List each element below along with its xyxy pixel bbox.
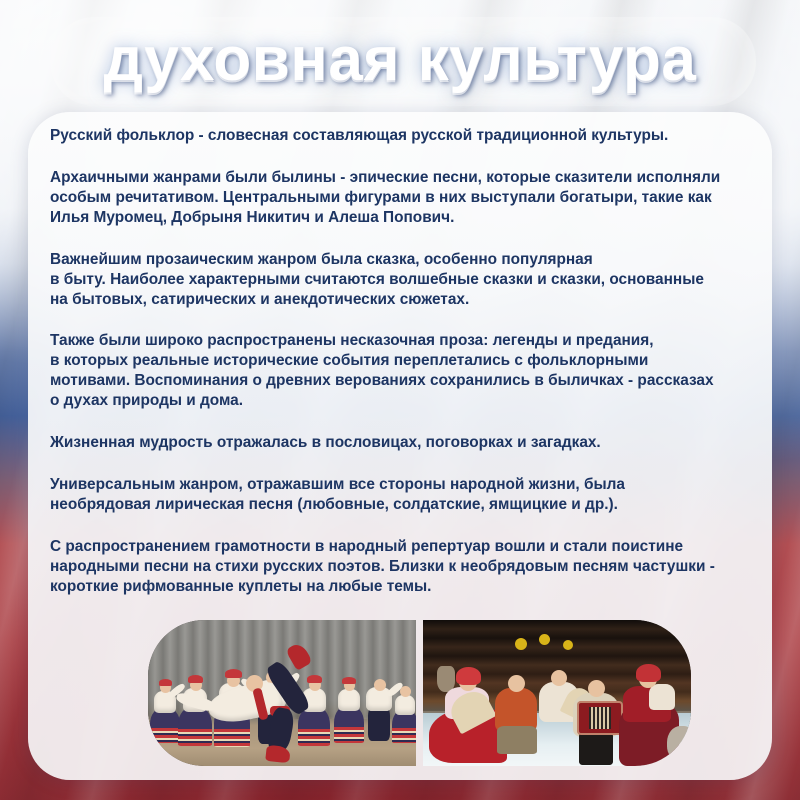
paragraph-3: Важнейшим прозаическим жанром была сказк… [50, 250, 750, 310]
instrument-accordion [577, 701, 623, 735]
paragraph-5: Жизненная мудрость отражалась в пословиц… [50, 433, 750, 453]
paragraph-2: Архаичными жанрами были былины - эпическ… [50, 168, 750, 228]
photo-folk-musicians [423, 620, 691, 766]
content-panel: Русский фольклор - словесная составляюща… [28, 112, 772, 780]
photo-strip [148, 620, 691, 766]
paragraph-7: С распространением грамотности в народны… [50, 537, 750, 597]
paragraph-4: Также были широко распространены несказо… [50, 331, 750, 411]
paragraph-1: Русский фольклор - словесная составляюща… [50, 126, 750, 146]
photo-folk-dance-troupe [148, 620, 416, 766]
paragraph-6: Универсальным жанром, отражавшим все сто… [50, 475, 750, 515]
body-text: Русский фольклор - словесная составляюща… [28, 112, 772, 597]
prop-wolf-pelt [667, 726, 691, 760]
page-title: духовная культура [0, 0, 800, 118]
prop-sunflower-1 [515, 638, 527, 650]
prop-sunflower-2 [539, 634, 550, 645]
prop-sunflower-3 [563, 640, 573, 650]
poster-root: духовная культура Русский фольклор - сло… [0, 0, 800, 800]
